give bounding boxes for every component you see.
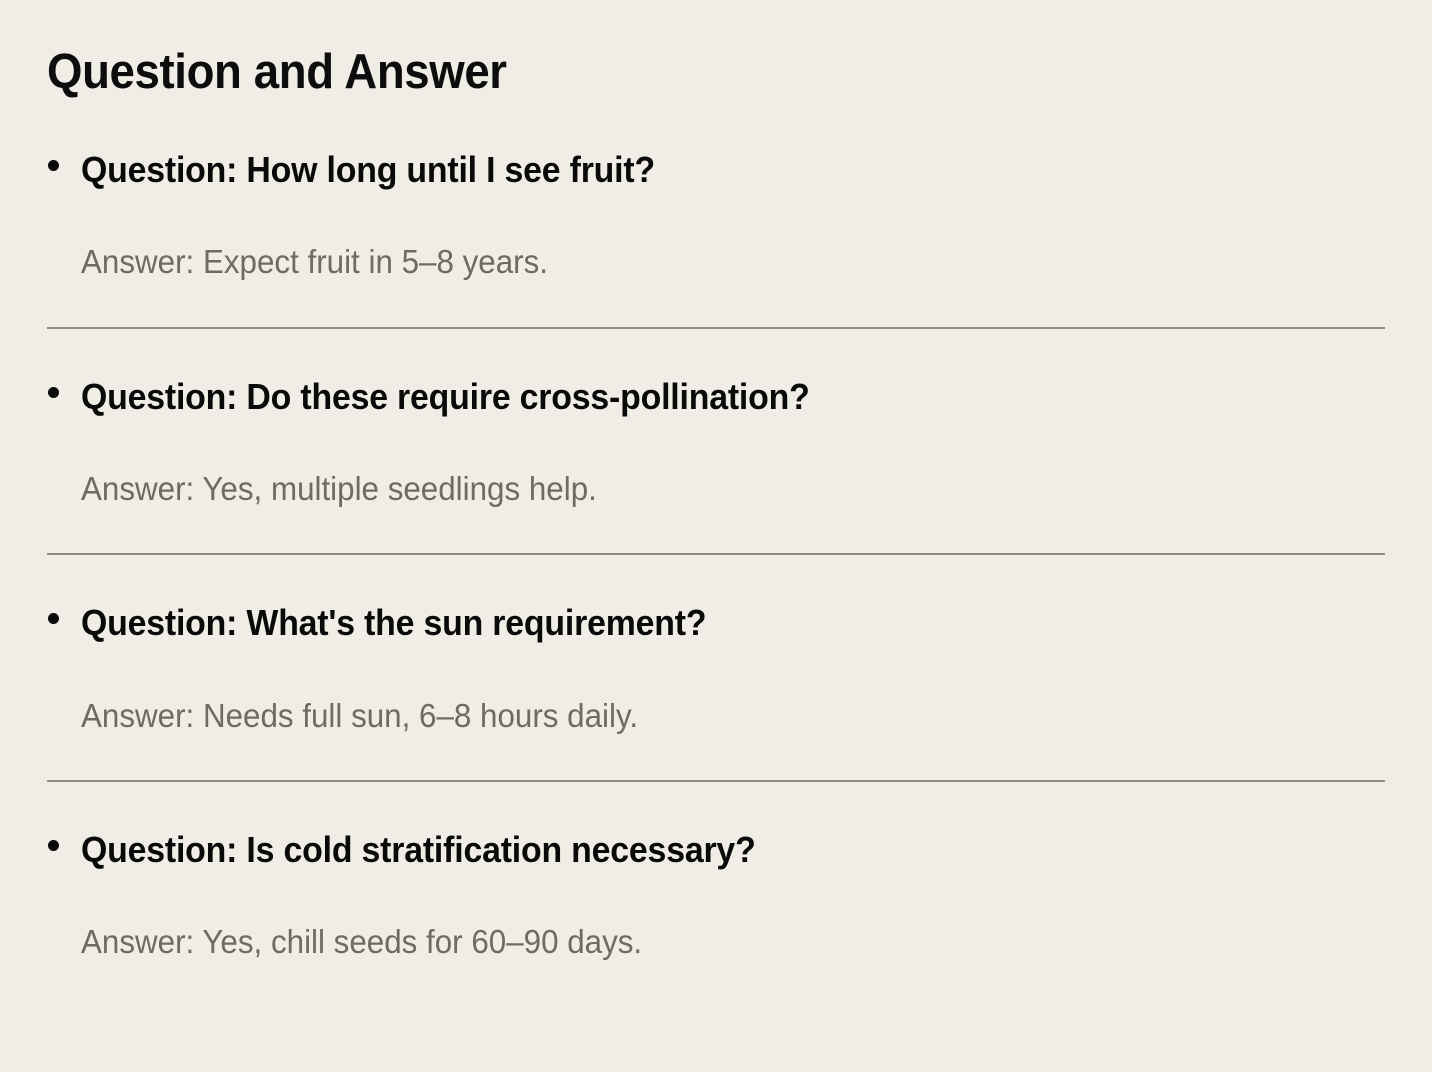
qa-question: Question: How long until I see fruit? [47, 102, 1385, 191]
bullet-dot-icon [48, 387, 59, 398]
qa-answer: Answer: Yes, chill seeds for 60–90 days. [47, 871, 1385, 1007]
qa-item: Question: Is cold stratification necessa… [47, 780, 1385, 1007]
qa-question: Question: Do these require cross-pollina… [47, 329, 1385, 418]
bullet-dot-icon [48, 160, 59, 171]
qa-question-text: Question: What's the sun requirement? [81, 601, 706, 644]
qa-question-text: Question: Do these require cross-pollina… [81, 375, 810, 418]
qa-question: Question: Is cold stratification necessa… [47, 782, 1385, 871]
qa-list: Question: How long until I see fruit? An… [47, 102, 1385, 1007]
qa-item: Question: What's the sun requirement? An… [47, 553, 1385, 780]
qa-item: Question: Do these require cross-pollina… [47, 327, 1385, 554]
bullet-dot-icon [48, 613, 59, 624]
qa-answer: Answer: Expect fruit in 5–8 years. [47, 191, 1385, 327]
qa-answer: Answer: Needs full sun, 6–8 hours daily. [47, 645, 1385, 781]
qa-answer-text: Answer: Needs full sun, 6–8 hours daily. [81, 696, 638, 736]
page-title: Question and Answer [47, 0, 1291, 102]
bullet-dot-icon [48, 840, 59, 851]
qa-answer-text: Answer: Yes, multiple seedlings help. [81, 469, 597, 509]
qa-question: Question: What's the sun requirement? [47, 555, 1385, 644]
qa-answer: Answer: Yes, multiple seedlings help. [47, 418, 1385, 554]
qa-question-text: Question: Is cold stratification necessa… [81, 828, 756, 871]
qa-item: Question: How long until I see fruit? An… [47, 102, 1385, 327]
qa-page: Question and Answer Question: How long u… [0, 0, 1432, 1072]
qa-answer-text: Answer: Yes, chill seeds for 60–90 days. [81, 922, 642, 962]
qa-question-text: Question: How long until I see fruit? [81, 148, 655, 191]
qa-answer-text: Answer: Expect fruit in 5–8 years. [81, 242, 548, 282]
